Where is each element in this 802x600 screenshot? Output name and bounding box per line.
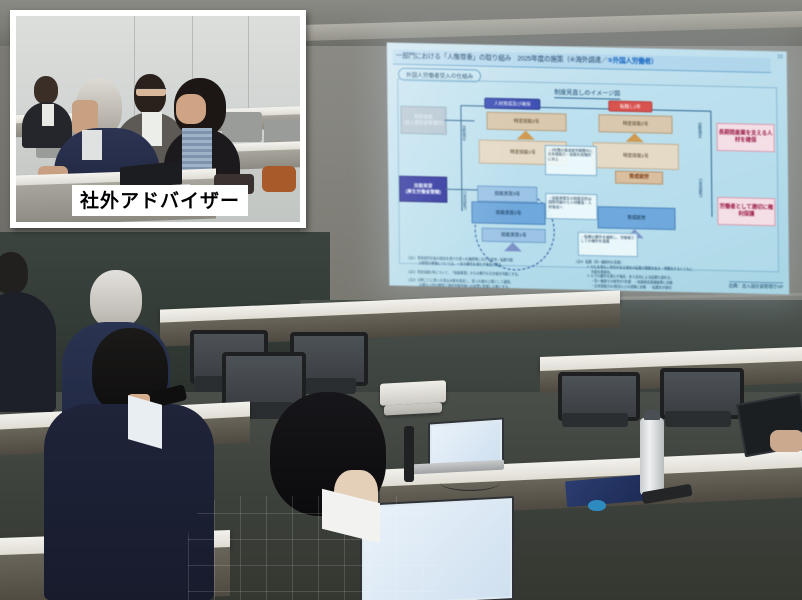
water-bottle [640,418,664,496]
mic-stand [404,426,414,482]
authority-box-ginou: 技能実習 (厚生労働省管轄) [399,176,447,203]
slide-surface: 一部門における「人権尊重」の取り組み 2025年度の施策（④海外調達／⑤外国人労… [387,42,790,294]
note-box-0: ・3年間の育成就労期間中に日本語能力・技能を段階的に向上 [545,145,597,176]
footnote-1: （注2）特定技能1号について、「技能実習」からの移行も引き続き可能とする。 [406,270,566,278]
inset-caption: 社外アドバイザー [72,185,248,216]
stack-right-2: 育成就労 [597,206,675,230]
projection-screen: 一部門における「人権尊重」の取り組み 2025年度の施策（④海外調達／⑤外国人労… [387,42,790,294]
flow-tag-red: 転籍し1年 [608,100,652,112]
slide-source: 出典：出入国在留管理庁HP [729,281,783,290]
screenshot-root: 一部門における「人権尊重」の取り組み 2025年度の施策（④海外調達／⑤外国人労… [0,0,802,600]
stack-right-1: 特定技能1号 [593,142,679,170]
attendee-right-hand [770,430,802,452]
inset-photo: 社外アドバイザー [16,16,300,222]
vertical-label-0: 技能検定 [463,125,468,140]
slide-title-highlight: ⑤外国人労働者） [607,57,657,65]
vertical-label-1: 日本語能力 [463,191,468,210]
center-growth-label: 育成就労 [615,171,663,185]
callout-1: 労働者として適切に権利保護 [717,197,775,226]
chair-right-1 [558,372,632,438]
external-advisor-inset: 社外アドバイザー [10,10,306,228]
slide-title-text: 一部門における「人権尊重」の取り組み 2025年度の施策（④海外調達／ [396,53,607,65]
stack-right-0: 特定技能2号 [598,114,672,134]
note-box-2: ・転籍の要件を緩和し、労働者としての権利を保護 [578,232,638,257]
stack-left-2: 技能実習3号 [477,185,537,202]
vertical-label-right-0: 技能検定 [698,123,703,138]
slide-diagram: 制度見直しのイメージ図 特定技能 (出入国在留管理庁) 技能実習 (厚生労働省管… [397,79,779,273]
stack-left-0: 特定技能2号 [486,112,566,132]
slide-page-number: 10 [777,54,783,60]
stack-left-4: 技能実習1号 [482,228,546,243]
note-box-1: ・技能実習生の制度目的は国際貢献から人材確保・人材育成へ [545,193,597,220]
inset-orange-bag [262,166,296,192]
footnote-3: （注4）転籍（同一機関内の変更） ① やむを得ない事情がある場合の転籍の範囲を拡… [574,260,748,293]
attendee-dark-suit-collar [128,395,162,449]
blue-mouse [588,500,606,511]
vertical-label-right-1: 日本語能力 [699,179,704,198]
callout-0: 長期間産業を支える人材を確保 [716,123,774,152]
chair-right-2 [660,368,736,438]
laptop-cable [440,474,500,491]
flow-tag-blue: 人材育成及び確保 [484,98,540,110]
stack-left-3: 技能実習2号 [471,201,545,225]
water-bottle-cap [644,410,660,420]
authority-box-tokutei: 特定技能 (出入国在留管理庁) [400,106,446,135]
diagram-title: 制度見直しのイメージ図 [554,87,620,99]
